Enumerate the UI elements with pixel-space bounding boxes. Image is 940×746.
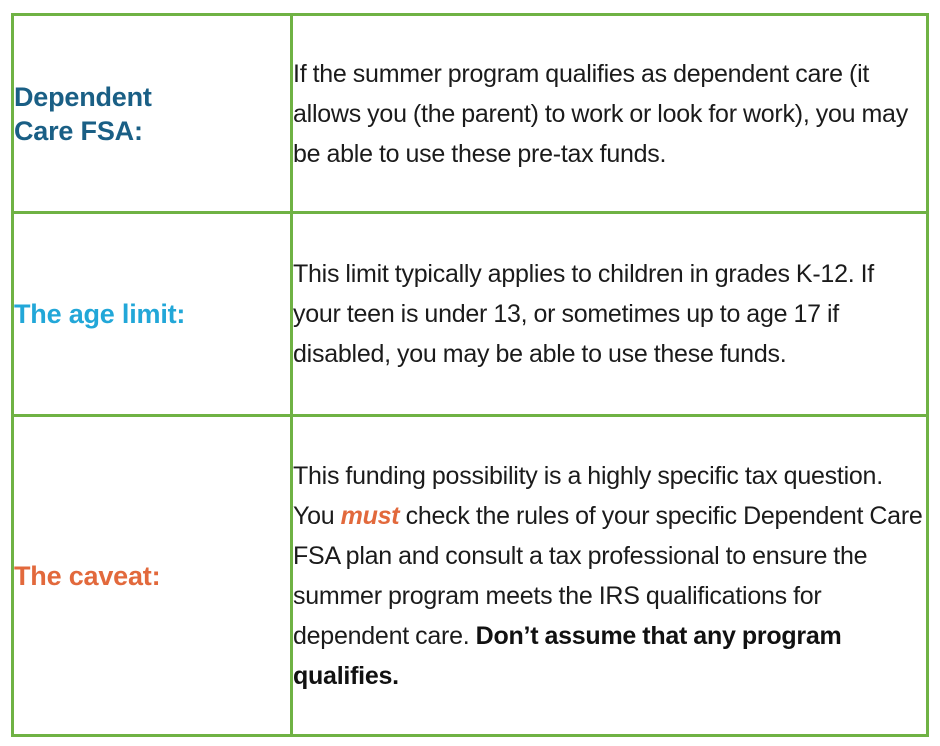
row-body-cell-age-limit: This limit typically applies to children…	[292, 213, 928, 416]
body-segment-normal: If the summer program qualifies as depen…	[293, 60, 908, 168]
row-body-text-dependent-care-fsa: If the summer program qualifies as depen…	[293, 54, 926, 174]
body-segment-normal: This limit typically applies to children…	[293, 260, 874, 368]
row-body-cell-dependent-care-fsa: If the summer program qualifies as depen…	[292, 15, 928, 213]
row-label-dependent-care-fsa-line2: Care FSA:	[14, 114, 290, 148]
table-row: The caveat: This funding possibility is …	[13, 416, 928, 736]
row-label-cell-age-limit: The age limit:	[13, 213, 292, 416]
row-label-cell-dependent-care-fsa: Dependent Care FSA:	[13, 15, 292, 213]
row-label-age-limit: The age limit:	[14, 297, 290, 331]
dependent-care-fsa-table: Dependent Care FSA: If the summer progra…	[11, 13, 929, 737]
row-body-cell-caveat: This funding possibility is a highly spe…	[292, 416, 928, 736]
table-body: Dependent Care FSA: If the summer progra…	[13, 15, 928, 736]
row-body-text-caveat: This funding possibility is a highly spe…	[293, 456, 926, 696]
body-segment-emphasis-must: must	[341, 502, 400, 530]
row-label-caveat: The caveat:	[14, 559, 290, 593]
row-body-text-age-limit: This limit typically applies to children…	[293, 254, 926, 374]
page-root: Dependent Care FSA: If the summer progra…	[0, 0, 940, 746]
table-row: The age limit: This limit typically appl…	[13, 213, 928, 416]
row-label-dependent-care-fsa-line1: Dependent	[14, 80, 290, 114]
table-row: Dependent Care FSA: If the summer progra…	[13, 15, 928, 213]
row-label-cell-caveat: The caveat:	[13, 416, 292, 736]
